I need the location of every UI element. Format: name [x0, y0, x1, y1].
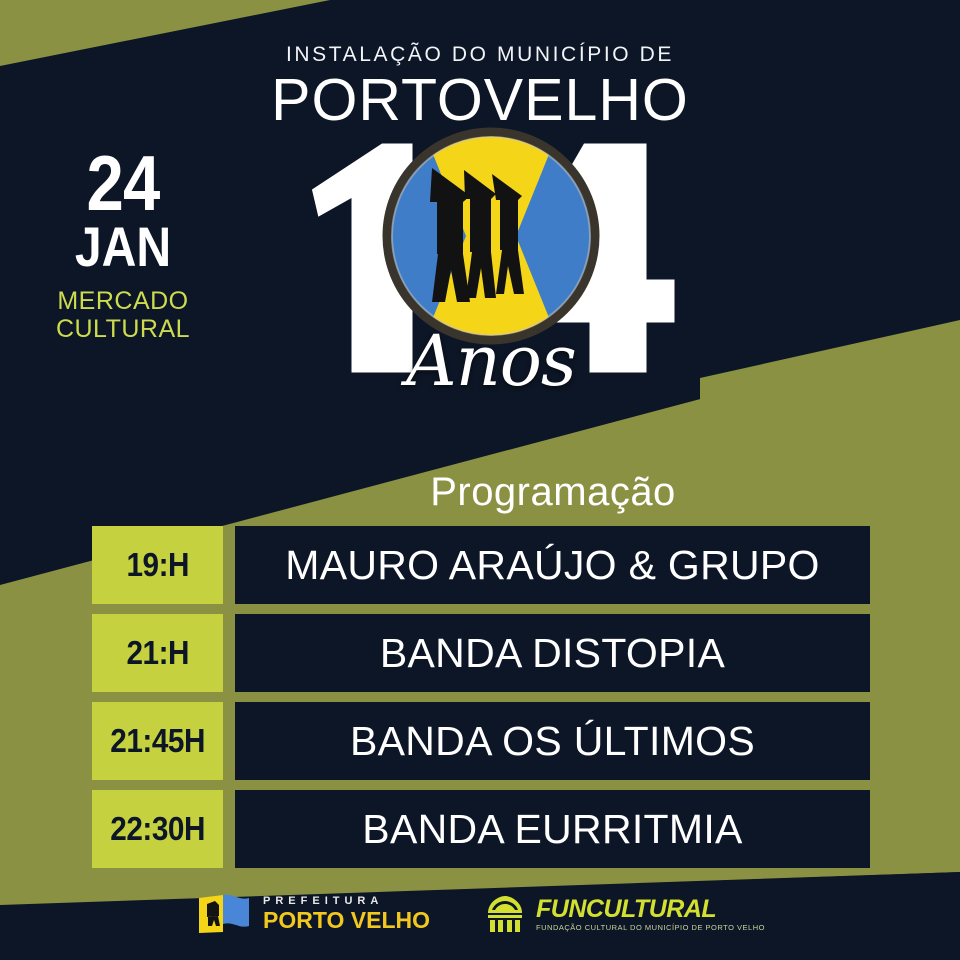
venue-line-1: MERCADO: [28, 287, 218, 315]
funcultural-emblem-icon: [482, 893, 528, 935]
schedule-time-chip: 21:H: [92, 614, 223, 692]
porto-velho-flag-icon: [195, 892, 253, 936]
schedule-row: 21:45H BANDA OS ÚLTIMOS: [92, 702, 870, 780]
event-date-block: 24 JAN MERCADO CULTURAL: [28, 148, 218, 343]
anos-script-text: Anos: [286, 326, 696, 396]
footer-logos: PREFEITURA PORTO VELHO FUNCULTURAL FUND: [0, 868, 960, 960]
prefeitura-wordmark: PREFEITURA PORTO VELHO: [263, 896, 430, 932]
prefeitura-logo: PREFEITURA PORTO VELHO: [195, 892, 430, 936]
event-venue: MERCADO CULTURAL: [28, 287, 218, 343]
schedule-time-chip: 21:45H: [92, 702, 223, 780]
schedule-row: 19:H MAURO ARAÚJO & GRUPO: [92, 526, 870, 604]
schedule-time-chip: 22:30H: [92, 790, 223, 868]
schedule-act-bar: BANDA EURRITMIA: [235, 790, 870, 868]
event-day: 24: [41, 148, 204, 220]
event-month: JAN: [41, 220, 204, 273]
program-title: Programação: [236, 472, 870, 512]
prefeitura-line-1: PREFEITURA: [263, 896, 430, 907]
schedule-row: 21:H BANDA DISTOPIA: [92, 614, 870, 692]
event-poster: INSTALAÇÃO DO MUNICÍPIO DE PORTOVELHO: [0, 0, 960, 960]
funcultural-name: FUNCULTURAL: [536, 897, 765, 922]
poster-kicker: INSTALAÇÃO DO MUNICÍPIO DE: [0, 44, 960, 65]
venue-line-2: CULTURAL: [28, 315, 218, 343]
funcultural-logo: FUNCULTURAL FUNDAÇÃO CULTURAL DO MUNICÍP…: [482, 893, 765, 935]
schedule-row: 22:30H BANDA EURRITMIA: [92, 790, 870, 868]
funcultural-wordmark: FUNCULTURAL FUNDAÇÃO CULTURAL DO MUNICÍP…: [536, 897, 765, 932]
schedule-act-bar: BANDA DISTOPIA: [235, 614, 870, 692]
schedule-time-text: 21:45H: [110, 722, 205, 760]
porto-velho-flag-emblem: [387, 132, 595, 340]
funcultural-subtitle: FUNDAÇÃO CULTURAL DO MUNICÍPIO DE PORTO …: [536, 924, 765, 932]
schedule-act-bar: MAURO ARAÚJO & GRUPO: [235, 526, 870, 604]
poster-header: INSTALAÇÃO DO MUNICÍPIO DE PORTOVELHO: [0, 44, 960, 130]
schedule-time-text: 19:H: [126, 546, 189, 584]
program-schedule: 19:H MAURO ARAÚJO & GRUPO 21:H BANDA DIS…: [92, 526, 870, 878]
schedule-act-bar: BANDA OS ÚLTIMOS: [235, 702, 870, 780]
schedule-time-text: 21:H: [126, 634, 189, 672]
poster-city-title: PORTOVELHO: [0, 71, 960, 130]
schedule-time-text: 22:30H: [110, 810, 205, 848]
schedule-time-chip: 19:H: [92, 526, 223, 604]
prefeitura-line-2: PORTO VELHO: [263, 909, 430, 932]
